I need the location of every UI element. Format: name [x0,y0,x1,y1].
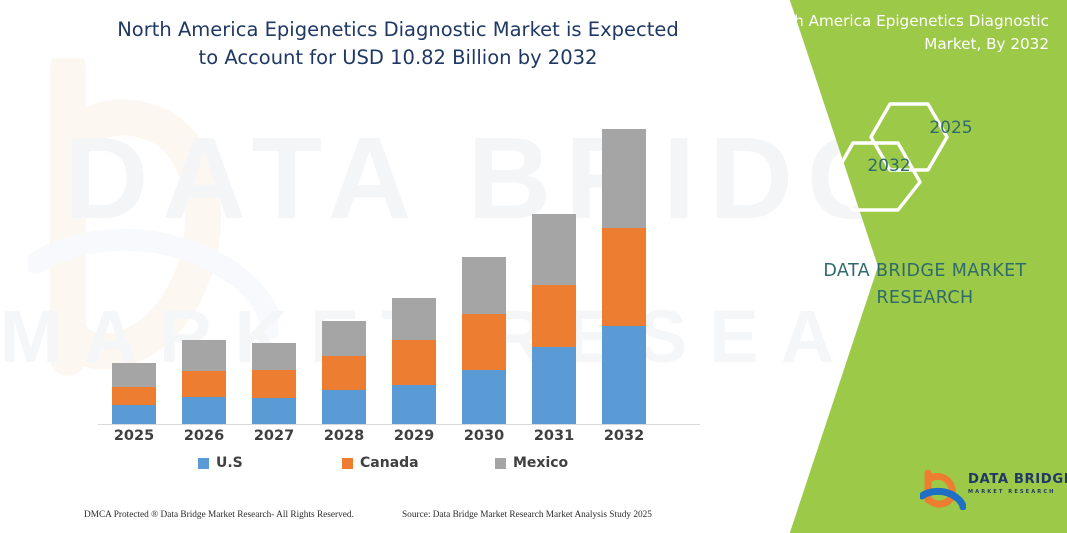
bar-2032 [602,129,646,424]
hexagon-outlines-icon [828,96,998,214]
hexagon-group: 2025 2032 [828,96,998,214]
bar-segment-2026-Mexico [182,340,226,371]
bar-segment-2028-Mexico [322,321,366,356]
logo-name: DATA BRIDGE [968,472,1067,487]
bar-2029 [392,298,436,424]
panel-title: North America Epigenetics Diagnostic Mar… [739,10,1049,56]
legend-item-Canada[interactable]: Canada [342,455,419,471]
page-title: North America Epigenetics Diagnostic Mar… [108,16,688,73]
panel-brand-text: DATA BRIDGE MARKET RESEARCH [790,258,1060,312]
bar-segment-2028-US [322,390,366,424]
bar-segment-2031-Canada [532,285,576,347]
bar-segment-2028-Canada [322,356,366,391]
x-axis-line [98,424,700,425]
logo-text-block: DATA BRIDGE MARKET RESEARCH [968,472,1067,495]
bar-segment-2029-Canada [392,340,436,385]
x-axis-tick-labels: 20252026202720282029203020312032 [80,428,700,452]
legend-item-Mexico[interactable]: Mexico [495,455,568,471]
x-tick-2031: 2031 [519,428,589,444]
stacked-bar-chart [80,120,700,425]
bar-2030 [462,257,506,424]
bar-segment-2029-US [392,385,436,424]
x-tick-2029: 2029 [379,428,449,444]
bar-segment-2031-US [532,347,576,424]
bar-segment-2025-Canada [112,387,156,405]
bar-2025 [112,363,156,424]
bar-segment-2031-Mexico [532,214,576,285]
bar-2028 [322,321,366,424]
dmca-notice: DMCA Protected ® Data Bridge Market Rese… [84,510,354,520]
x-tick-2032: 2032 [589,428,659,444]
legend-label: Mexico [513,455,568,471]
x-tick-2030: 2030 [449,428,519,444]
logo-tagline: MARKET RESEARCH [968,489,1067,495]
bar-2031 [532,214,576,424]
x-tick-2028: 2028 [309,428,379,444]
bar-segment-2032-Canada [602,228,646,327]
footer: DMCA Protected ® Data Bridge Market Rese… [0,506,720,528]
x-tick-2025: 2025 [99,428,169,444]
bar-segment-2026-Canada [182,371,226,397]
data-bridge-logo: DATA BRIDGE MARKET RESEARCH [920,470,1060,512]
bar-segment-2027-US [252,398,296,424]
x-tick-2026: 2026 [169,428,239,444]
chart-plot-area [80,120,700,425]
bar-segment-2025-US [112,405,156,424]
data-bridge-mark-icon [920,470,966,510]
chart-legend: U.SCanadaMexico [80,455,700,477]
source-note: Source: Data Bridge Market Research Mark… [402,510,652,520]
bar-segment-2032-US [602,326,646,424]
bar-2026 [182,340,226,424]
bar-2027 [252,343,296,424]
bar-segment-2030-Mexico [462,257,506,314]
legend-swatch-icon [495,458,506,469]
legend-swatch-icon [198,458,209,469]
hexagon-label-2032: 2032 [842,156,936,176]
bar-segment-2027-Mexico [252,343,296,370]
legend-label: Canada [360,455,419,471]
legend-label: U.S [216,455,243,471]
bar-segment-2029-Mexico [392,298,436,339]
hexagon-2032-shape [831,143,920,210]
legend-item-US[interactable]: U.S [198,455,243,471]
bar-segment-2027-Canada [252,370,296,398]
bar-segment-2030-Canada [462,314,506,370]
bar-segment-2032-Mexico [602,129,646,228]
hexagon-label-2025: 2025 [904,118,998,138]
bar-segment-2025-Mexico [112,363,156,386]
x-tick-2027: 2027 [239,428,309,444]
legend-swatch-icon [342,458,353,469]
infographic-root: DATA BRIDGE MARKET RESEARCH North Americ… [0,0,1067,533]
bar-segment-2030-US [462,370,506,424]
bar-segment-2026-US [182,397,226,424]
